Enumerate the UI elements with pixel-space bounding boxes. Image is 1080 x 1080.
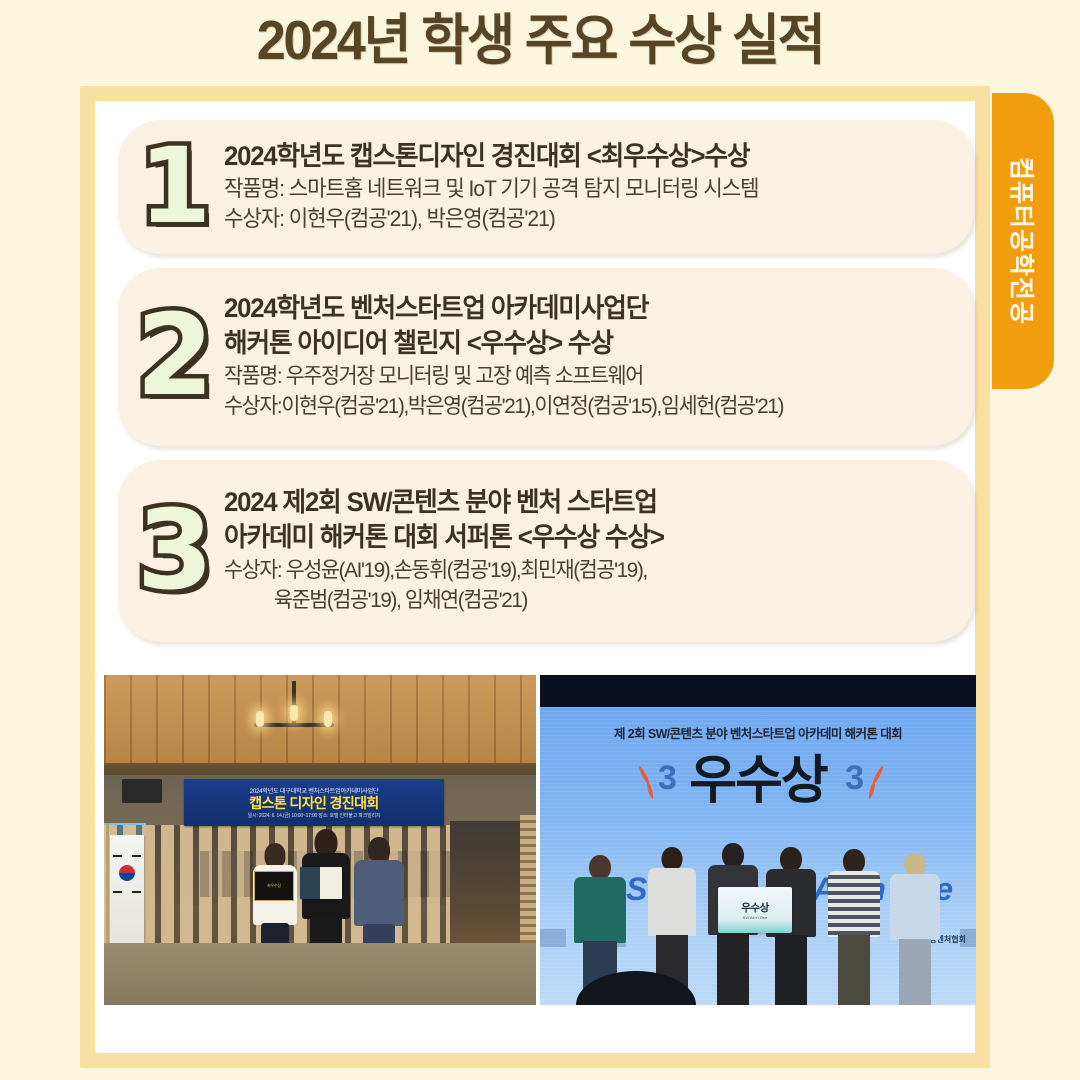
plaque-text: 최우수상	[267, 883, 281, 889]
department-side-tab[interactable]: 컴퓨터공학전공	[992, 93, 1054, 389]
award-card-2[interactable]: 2 2024학년도 벤처스타트업 아카데미사업단 해커톤 아이디어 챌린지 <우…	[118, 268, 974, 446]
korean-flag-icon	[110, 835, 144, 945]
screen-award-title: 우수상	[540, 753, 976, 809]
certificate-folder	[300, 867, 342, 899]
award-placard: 우수상 SW All in One	[718, 887, 792, 933]
photo2-person-5	[826, 849, 882, 1005]
photo-gallery: 2024학년도 대구대학교 벤처스타트업아카데미사업단 캡스톤 디자인 경진대회…	[104, 675, 976, 1005]
placard-subtitle: SW All in One	[743, 915, 768, 920]
award-title-2-line1: 2024학년도 벤처스타트업 아카데미사업단	[224, 291, 938, 326]
award-card-1[interactable]: 1 2024학년도 캡스톤디자인 경진대회 <최우수상>수상 작품명: 스마트홈…	[118, 120, 974, 254]
capstone-ceremony-photo[interactable]: 2024학년도 대구대학교 벤처스타트업아카데미사업단 캡스톤 디자인 경진대회…	[104, 675, 536, 1005]
award-list: 1 2024학년도 캡스톤디자인 경진대회 <최우수상>수상 작품명: 스마트홈…	[118, 120, 974, 656]
award-rank-number-2: 2	[126, 300, 222, 412]
award-title-3-line2: 아카데미 해커톤 대회 서퍼톤 <우수상 수상>	[224, 520, 938, 555]
award-title-2-line2: 해커톤 아이디어 챌린지 <우수상> 수상	[224, 326, 938, 361]
award-card-3[interactable]: 3 2024 제2회 SW/콘텐츠 분야 벤처 스타트업 아카데미 해커톤 대회…	[118, 460, 974, 642]
award-title-3-line1: 2024 제2회 SW/콘텐츠 분야 벤처 스타트업	[224, 485, 938, 520]
award-title-1: 2024학년도 캡스톤디자인 경진대회 <최우수상>수상	[224, 139, 938, 174]
award-card-body-1: 2024학년도 캡스톤디자인 경진대회 <최우수상>수상 작품명: 스마트홈 네…	[222, 139, 960, 234]
event-banner: 2024학년도 대구대학교 벤처스타트업아카데미사업단 캡스톤 디자인 경진대회…	[184, 779, 444, 826]
banner-line-2: 캡스톤 디자인 경진대회	[249, 795, 378, 812]
award-card-body-3: 2024 제2회 SW/콘텐츠 분야 벤처 스타트업 아카데미 해커톤 대회 서…	[222, 485, 960, 615]
banner-line-3: 일시: 2024. 6. 14.(금) 10:00~17:00 장소: 호텔 인…	[248, 812, 381, 819]
award-rank-number-3: 3	[126, 495, 222, 605]
placard-title: 우수상	[741, 900, 768, 915]
hall-floor	[104, 943, 536, 1005]
award-rank-number-1: 1	[126, 134, 222, 238]
photo2-person-6	[888, 853, 942, 1005]
department-label: 컴퓨터공학전공	[1005, 157, 1041, 325]
award-work-1: 작품명: 스마트홈 네트워크 및 IoT 기기 공격 탐지 모니터링 시스템	[224, 174, 931, 204]
screen-event-title: 제 2회 SW/콘텐츠 분야 벤처스타트업 아카데미 해커톤 대회	[540, 723, 976, 742]
award-winners-3-line2: 육준범(컴공'19), 임채연(컴공'21)	[224, 585, 931, 615]
page-title: 2024년 학생 주요 수상 실적	[27, 4, 1053, 76]
award-card-body-2: 2024학년도 벤처스타트업 아카데미사업단 해커톤 아이디어 챌린지 <우수상…	[222, 291, 960, 421]
award-winners-1: 수상자: 이현우(컴공'21), 박은영(컴공'21)	[224, 204, 931, 234]
banner-line-1: 2024학년도 대구대학교 벤처스타트업아카데미사업단	[250, 786, 379, 795]
chandelier-icon	[254, 681, 334, 741]
speaker-box	[122, 779, 162, 803]
award-winners-2: 수상자:이현우(컴공'21),박은영(컴공'21),이연정(컴공'15),임세헌…	[224, 391, 931, 421]
hackathon-stage-photo[interactable]: 제 2회 SW/콘텐츠 분야 벤처스타트업 아카데미 해커톤 대회 3 3 우수…	[540, 675, 976, 1005]
award-plaque: 최우수상	[254, 871, 294, 901]
award-winners-3-line1: 수상자: 우성윤(AI'19),손동휘(컴공'19),최민재(컴공'19),	[224, 555, 931, 585]
award-work-2: 작품명: 우주정거장 모니터링 및 고장 예측 소프트웨어	[224, 361, 931, 391]
